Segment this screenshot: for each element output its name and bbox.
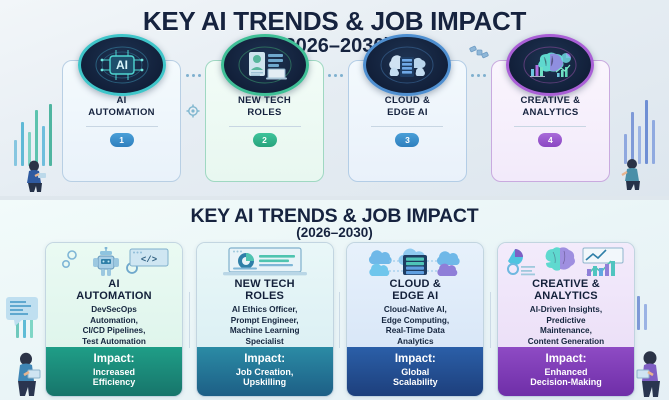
card-upper: CLOUD & EDGE AI Cloud-Native AI, Edge Co… bbox=[347, 243, 483, 347]
impact-text: Job Creation, Upskilling bbox=[236, 367, 294, 389]
brain-chart-icon bbox=[506, 34, 594, 96]
top-cards-row: AI AI AUT bbox=[62, 60, 610, 182]
person-left-bottom bbox=[12, 352, 42, 398]
brain-charts-icon bbox=[503, 247, 629, 277]
divider bbox=[229, 126, 301, 127]
desc-line2: Predictive bbox=[546, 316, 585, 325]
card-upper: CREATIVE & ANALYTICS AI-Driven Insights,… bbox=[498, 243, 634, 347]
top-card-label-line2: ROLES bbox=[247, 107, 281, 118]
top-card-label-line2: EDGE AI bbox=[387, 107, 428, 118]
top-card-label-line1: CREATIVE & bbox=[521, 95, 581, 106]
desc-line1: AI Ethics Officer, bbox=[232, 305, 298, 314]
card-description: AI Ethics Officer, Prompt Engineer, Mach… bbox=[230, 305, 300, 347]
desc-line4: Content Generation bbox=[528, 337, 604, 346]
robot-gears-code-icon: </> bbox=[58, 247, 170, 277]
chat-bubble-left bbox=[5, 296, 41, 330]
top-card-new-tech-roles[interactable]: NEW TECH ROLES 2 bbox=[205, 60, 324, 182]
step-badge-3: 3 bbox=[395, 133, 419, 147]
top-card-label-line2: AUTOMATION bbox=[88, 107, 155, 118]
card-title: NEW TECH ROLES bbox=[235, 278, 295, 302]
desc-line3: Maintenance, bbox=[540, 326, 592, 335]
card-separator bbox=[339, 292, 340, 348]
card-description: Cloud-Native AI, Edge Computing, Real-Ti… bbox=[381, 305, 449, 347]
card-title: AI AUTOMATION bbox=[76, 278, 152, 302]
svg-text:AI: AI bbox=[116, 58, 128, 72]
person-right-top bbox=[619, 158, 645, 192]
step-badge-1: 1 bbox=[110, 133, 134, 147]
desc-line1: DevSecOps bbox=[91, 305, 137, 314]
impact-text: Global Scalability bbox=[393, 367, 438, 389]
card-title-line1: AI bbox=[108, 278, 119, 290]
top-card-creative-analytics[interactable]: CREATIVE & ANALYTICS 4 bbox=[491, 60, 610, 182]
impact-line1: Increased bbox=[93, 367, 135, 377]
person-left-top bbox=[22, 160, 48, 194]
connector-dots bbox=[471, 74, 486, 77]
card-title-line2: EDGE AI bbox=[392, 290, 438, 302]
desc-line2: Prompt Engineer, bbox=[231, 316, 299, 325]
card-title-line1: CREATIVE & bbox=[532, 278, 600, 290]
bottom-card-new-tech-roles[interactable]: NEW TECH ROLES AI Ethics Officer, Prompt… bbox=[196, 242, 334, 397]
ai-chip-icon: AI bbox=[78, 34, 166, 96]
impact-line1: Global bbox=[401, 367, 429, 377]
card-impact-band: Impact: Increased Efficiency bbox=[46, 347, 182, 396]
card-title-line2: ROLES bbox=[245, 290, 284, 302]
card-upper: NEW TECH ROLES AI Ethics Officer, Prompt… bbox=[197, 243, 333, 347]
card-title-line1: CLOUD & bbox=[390, 278, 442, 290]
impact-line1: Enhanced bbox=[544, 367, 587, 377]
desc-line3: Machine Learning bbox=[230, 326, 300, 335]
card-title-line1: NEW TECH bbox=[235, 278, 295, 290]
card-title: CREATIVE & ANALYTICS bbox=[532, 278, 600, 302]
bottom-cards-row: </> AI AUTOMATION DevSecOps Automation, … bbox=[45, 242, 635, 397]
bottom-card-ai-automation[interactable]: </> AI AUTOMATION DevSecOps Automation, … bbox=[45, 242, 183, 397]
connector-2-3 bbox=[324, 60, 348, 182]
desc-line2: Automation, bbox=[90, 316, 138, 325]
desc-line4: Analytics bbox=[397, 337, 433, 346]
top-card-label: NEW TECH ROLES bbox=[234, 95, 295, 119]
impact-label: Impact: bbox=[244, 353, 285, 366]
card-separator bbox=[490, 292, 491, 348]
desc-line4: Specialist bbox=[246, 337, 284, 346]
card-upper: </> AI AUTOMATION DevSecOps Automation, … bbox=[46, 243, 182, 347]
divider bbox=[371, 126, 443, 127]
bottom-card-cloud-edge-ai[interactable]: CLOUD & EDGE AI Cloud-Native AI, Edge Co… bbox=[346, 242, 484, 397]
card-impact-band: Impact: Job Creation, Upskilling bbox=[197, 347, 333, 396]
divider bbox=[514, 126, 586, 127]
top-card-label: CLOUD & EDGE AI bbox=[381, 95, 434, 119]
connector-dots bbox=[328, 74, 343, 77]
satellite-icon bbox=[469, 43, 489, 61]
top-card-label-line1: AI bbox=[117, 95, 127, 106]
step-badge-4: 4 bbox=[538, 133, 562, 147]
desc-line3: CI/CD Pipelines, bbox=[83, 326, 146, 335]
clouds-server-icon bbox=[359, 247, 471, 277]
impact-line2: Efficiency bbox=[93, 377, 136, 387]
bottom-panel: KEY AI TRENDS & JOB IMPACT (2026–2030) bbox=[0, 200, 669, 400]
desc-line1: Cloud-Native AI, bbox=[384, 305, 447, 314]
card-title-line2: ANALYTICS bbox=[534, 290, 598, 302]
impact-line2: Upskilling bbox=[243, 377, 286, 387]
impact-text: Increased Efficiency bbox=[93, 367, 136, 389]
cloud-server-icon bbox=[363, 34, 451, 96]
right-bar-chart-decoration bbox=[624, 100, 655, 164]
impact-line2: Decision-Making bbox=[530, 377, 602, 387]
connector-1-2 bbox=[181, 60, 205, 182]
gear-icon bbox=[185, 103, 201, 119]
top-card-label-line1: CLOUD & bbox=[385, 95, 430, 106]
bottom-card-creative-analytics[interactable]: CREATIVE & ANALYTICS AI-Driven Insights,… bbox=[497, 242, 635, 397]
card-description: AI-Driven Insights, Predictive Maintenan… bbox=[528, 305, 604, 347]
top-card-cloud-edge-ai[interactable]: CLOUD & EDGE AI 3 bbox=[348, 60, 467, 182]
card-impact-band: Impact: Global Scalability bbox=[347, 347, 483, 396]
impact-line1: Job Creation, bbox=[236, 367, 294, 377]
connector-dots bbox=[186, 74, 201, 77]
top-card-label: AI AUTOMATION bbox=[84, 95, 159, 119]
card-title-line2: AUTOMATION bbox=[76, 290, 152, 302]
profile-laptop-icon bbox=[221, 34, 309, 96]
impact-line2: Scalability bbox=[393, 377, 438, 387]
top-panel-title: KEY AI TRENDS & JOB IMPACT bbox=[0, 8, 669, 34]
desc-line1: AI-Driven Insights, bbox=[530, 305, 602, 314]
svg-text:</>: </> bbox=[141, 255, 157, 265]
desc-line2: Edge Computing, bbox=[381, 316, 449, 325]
desc-line3: Real-Time Data bbox=[386, 326, 445, 335]
desc-line4: Test Automation bbox=[82, 337, 146, 346]
card-impact-band: Impact: Enhanced Decision-Making bbox=[498, 347, 634, 396]
top-card-label-line1: NEW TECH bbox=[238, 95, 291, 106]
impact-text: Enhanced Decision-Making bbox=[530, 367, 602, 389]
top-card-label: CREATIVE & ANALYTICS bbox=[517, 95, 585, 119]
connector-3-4 bbox=[467, 60, 491, 182]
divider bbox=[86, 126, 158, 127]
card-description: DevSecOps Automation, CI/CD Pipelines, T… bbox=[82, 305, 146, 347]
laptop-profile-icon bbox=[215, 247, 315, 277]
top-card-label-line2: ANALYTICS bbox=[522, 107, 578, 118]
step-badge-2: 2 bbox=[253, 133, 277, 147]
impact-label: Impact: bbox=[94, 353, 135, 366]
impact-label: Impact: bbox=[546, 353, 587, 366]
person-right-bottom bbox=[635, 350, 665, 398]
infographic-root: KEY AI TRENDS & JOB IMPACT (2026–2030) bbox=[0, 0, 669, 400]
left-bar-chart-decoration bbox=[14, 104, 52, 166]
bottom-panel-subtitle: (2026–2030) bbox=[0, 225, 669, 240]
card-separator bbox=[189, 292, 190, 348]
impact-label: Impact: bbox=[395, 353, 436, 366]
top-panel: KEY AI TRENDS & JOB IMPACT (2026–2030) bbox=[0, 0, 669, 196]
top-card-ai-automation[interactable]: AI AI AUT bbox=[62, 60, 181, 182]
card-title: CLOUD & EDGE AI bbox=[390, 278, 442, 302]
